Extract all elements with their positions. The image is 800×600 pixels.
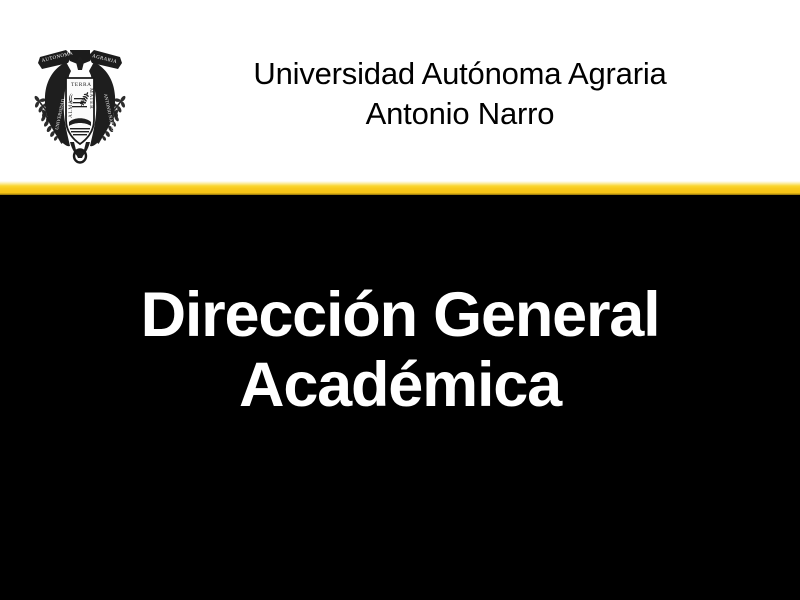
svg-text:ALMA: ALMA: [68, 100, 74, 118]
university-name-line1: Universidad Autónoma Agraria: [150, 54, 770, 94]
university-name-line2: Antonio Narro: [150, 94, 770, 134]
uaaan-coat-of-arms-icon: AUTONOMA AGRARIA: [18, 38, 142, 164]
presentation-slide: AUTONOMA AGRARIA: [0, 0, 800, 600]
yellow-divider-bar: [0, 181, 800, 195]
university-name: Universidad Autónoma Agraria Antonio Nar…: [150, 54, 770, 134]
svg-text:MATER: MATER: [88, 88, 94, 109]
slide-header: AUTONOMA AGRARIA: [0, 0, 800, 182]
slide-title-line1: Dirección General: [0, 280, 800, 350]
slide-title-line2: Académica: [0, 350, 800, 420]
slide-body: Dirección General Académica: [0, 195, 800, 600]
university-logo: AUTONOMA AGRARIA: [18, 38, 142, 164]
slide-title: Dirección General Académica: [0, 280, 800, 420]
